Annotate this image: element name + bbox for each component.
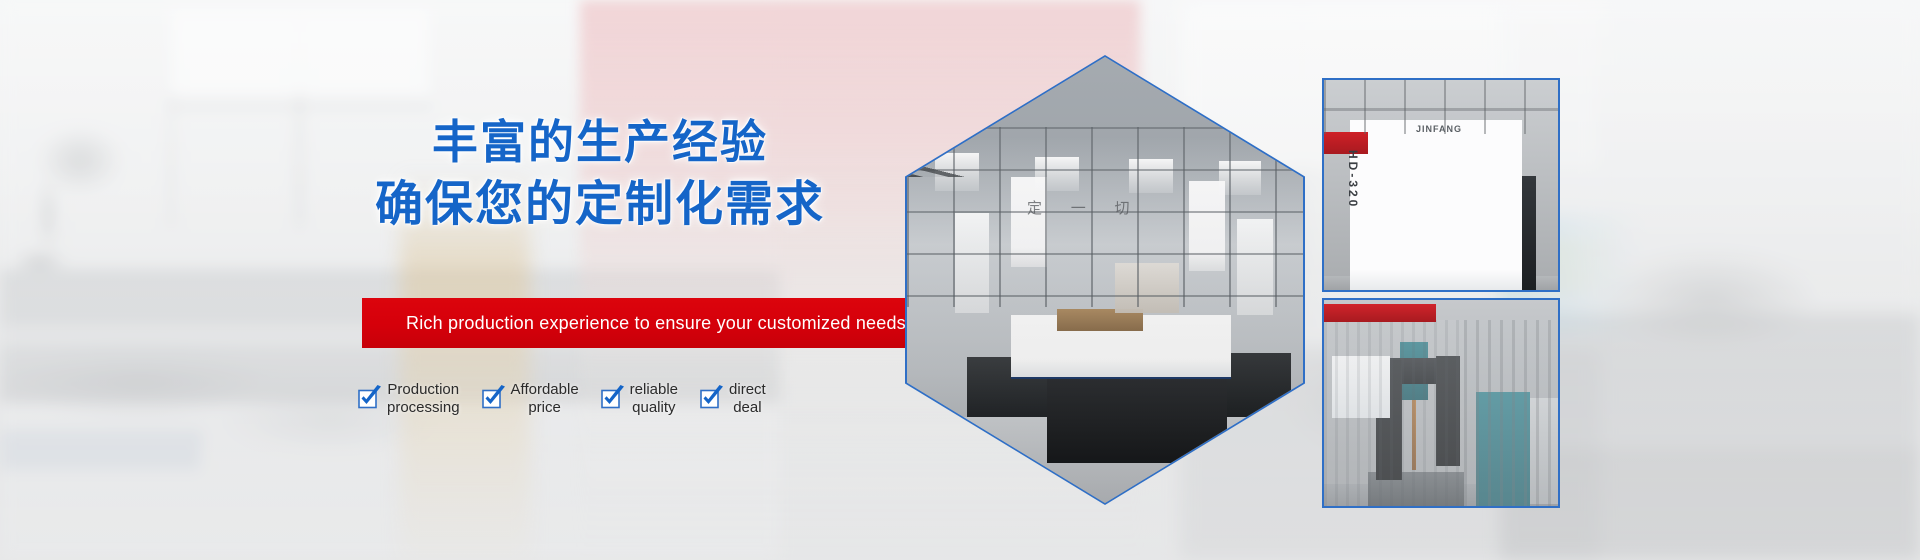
subtitle-text: Rich production experience to ensure you…: [362, 313, 906, 334]
feature-label-line-1: direct: [729, 381, 766, 398]
feature-label-line-2: quality: [632, 399, 675, 416]
feature-item-production-processing[interactable]: Productionprocessing: [358, 381, 460, 417]
feature-label-line-2: price: [528, 399, 561, 416]
feature-item-reliable-quality[interactable]: reliablequality: [601, 381, 678, 417]
feature-label: directdeal: [729, 381, 766, 417]
checkbox-checked-icon[interactable]: [358, 389, 378, 409]
feature-label-line-1: Production: [387, 381, 459, 398]
hall-sign-text: 定 一 切: [1027, 197, 1147, 217]
promo-banner: 丰富的生产经验 确保您的定制化需求 Rich production experi…: [0, 0, 1920, 560]
headline-line-1: 丰富的生产经验: [330, 112, 870, 174]
thumbnail-machining-center[interactable]: JINFANG HD-320: [1322, 78, 1560, 292]
thumbnail-edm-machine[interactable]: [1322, 298, 1560, 508]
machining-center-photo: JINFANG HD-320: [1324, 80, 1558, 290]
subtitle-bar: Rich production experience to ensure you…: [362, 298, 905, 348]
feature-list: Productionprocessing Affordableprice rel…: [358, 373, 766, 425]
feature-label: Affordableprice: [511, 381, 579, 417]
factory-machine-photo: [907, 57, 1303, 503]
feature-label: reliablequality: [630, 381, 678, 417]
machine-brand-label: JINFANG: [1416, 124, 1462, 134]
feature-label: Productionprocessing: [387, 381, 460, 417]
hexagon-border: 定 一 切: [905, 55, 1305, 505]
headline-line-2: 确保您的定制化需求: [330, 174, 870, 236]
hexagon-clip: 定 一 切: [907, 57, 1303, 503]
edm-machine-photo: [1324, 300, 1558, 506]
headline: 丰富的生产经验 确保您的定制化需求: [330, 112, 870, 236]
checkbox-checked-icon[interactable]: [482, 389, 502, 409]
checkbox-checked-icon[interactable]: [601, 389, 621, 409]
machine-model-label: HD-320: [1346, 150, 1360, 209]
feature-label-line-2: deal: [733, 399, 761, 416]
feature-item-affordable-price[interactable]: Affordableprice: [482, 381, 579, 417]
checkbox-checked-icon[interactable]: [700, 389, 720, 409]
feature-label-line-1: Affordable: [511, 381, 579, 398]
feature-label-line-2: processing: [387, 399, 460, 416]
feature-item-direct-deal[interactable]: directdeal: [700, 381, 766, 417]
feature-label-line-1: reliable: [630, 381, 678, 398]
hero-image-hexagon[interactable]: 定 一 切: [905, 55, 1305, 505]
